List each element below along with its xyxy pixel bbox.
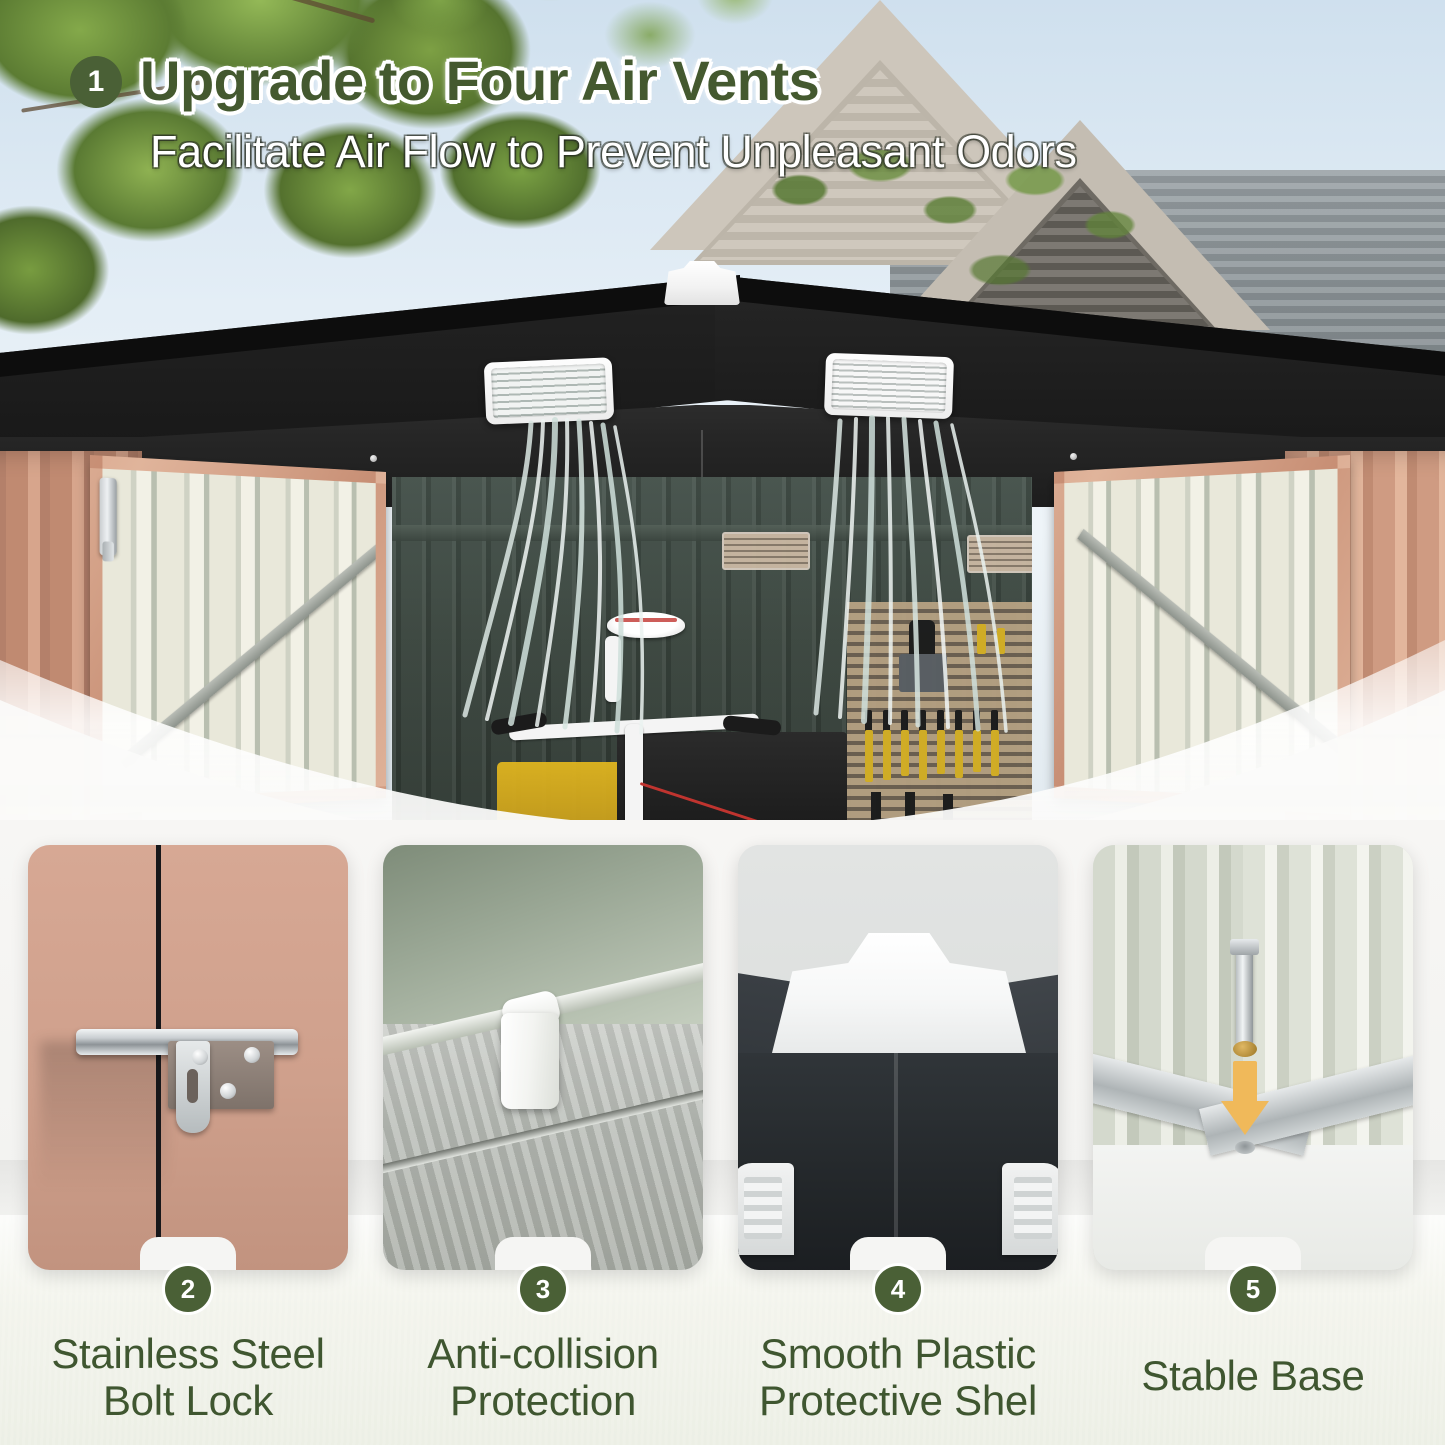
vent-louvers	[491, 364, 607, 419]
lock-screw	[244, 1047, 260, 1063]
roof-ridge-protective-shell	[664, 261, 740, 305]
shed-screw	[1070, 453, 1077, 460]
arrow-shaft	[1233, 1061, 1257, 1105]
feature-panels	[0, 845, 1445, 1285]
infographic-canvas: 1 Upgrade to Four Air Vents Facilitate A…	[0, 0, 1445, 1445]
interior-vent	[722, 532, 810, 570]
feature-panel-anti-collision[interactable]	[383, 845, 703, 1270]
hero-title: Upgrade to Four Air Vents	[140, 48, 819, 113]
hanging-tool	[899, 654, 947, 692]
shed-door-right[interactable]	[1054, 455, 1350, 815]
door-gap-seam	[156, 845, 161, 1270]
feature-caption-protective-shell: Smooth Plastic Protective Shel	[728, 1330, 1068, 1424]
shed-door-left[interactable]	[90, 455, 386, 815]
hanging-tool	[977, 624, 986, 654]
bicycle	[487, 612, 777, 842]
interior-vent	[967, 535, 1032, 573]
shed-screw	[370, 455, 377, 462]
vent-louvers	[831, 359, 947, 413]
interior-beam	[392, 525, 1032, 541]
feature-caption-anti-collision: Anti-collision Protection	[373, 1330, 713, 1424]
anchor-nut	[1230, 939, 1259, 955]
hanging-tool	[955, 730, 963, 778]
lock-shadow	[40, 1041, 168, 1191]
hanging-tool	[919, 730, 927, 780]
feature-panel-protective-shell[interactable]	[738, 845, 1058, 1270]
lock-screw	[220, 1083, 236, 1099]
tool-pegboard	[847, 602, 1032, 837]
hanging-tool	[865, 730, 873, 782]
feature-caption-bolt-lock: Stainless Steel Bolt Lock	[18, 1330, 358, 1424]
caption-line-2: Bolt Lock	[18, 1377, 358, 1424]
bike-stem	[625, 724, 643, 834]
caption-line-1: Smooth Plastic	[728, 1330, 1068, 1377]
roof-air-vent-left	[484, 357, 615, 425]
metal-storage-shed	[0, 255, 1445, 880]
feature-panel-stable-base[interactable]	[1093, 845, 1413, 1270]
lock-screw	[192, 1049, 208, 1065]
bike-saddle-stripe	[615, 618, 677, 622]
hanging-tool	[973, 730, 981, 772]
hanging-tool	[997, 628, 1005, 654]
bolt-lock-icon[interactable]	[100, 477, 117, 555]
door-frame	[1054, 455, 1350, 815]
anchor-hole	[1235, 1141, 1255, 1154]
feature-caption-stable-base: Stable Base	[1083, 1352, 1423, 1399]
door-frame	[90, 455, 386, 815]
anchor-bolt	[1236, 945, 1253, 1045]
bike-seatpost	[605, 636, 621, 702]
feature-panel-bolt-lock[interactable]	[28, 845, 348, 1270]
shell-bracket-right	[1002, 1163, 1058, 1255]
caption-line-2: Protection	[373, 1377, 713, 1424]
hanging-tool	[991, 730, 999, 776]
bike-saddle	[607, 612, 685, 638]
shell-bracket-left	[738, 1163, 794, 1255]
hanging-tool	[937, 730, 945, 774]
caption-line-1: Stainless Steel	[18, 1330, 358, 1377]
caption-line-1: Stable Base	[1083, 1352, 1423, 1399]
feature-badge-3: 3	[520, 1266, 566, 1312]
roof-air-vent-right	[824, 353, 954, 419]
feature-badge-2: 2	[165, 1266, 211, 1312]
brass-washer	[1233, 1041, 1257, 1057]
down-arrow-icon	[1221, 1061, 1269, 1135]
hero-subtitle: Facilitate Air Flow to Prevent Unpleasan…	[150, 126, 1077, 178]
tree-sparse-leaves	[380, 0, 800, 240]
caption-line-2: Protective Shel	[728, 1377, 1068, 1424]
hero-product-photo: 1 Upgrade to Four Air Vents Facilitate A…	[0, 0, 1445, 880]
feature-badge-5: 5	[1230, 1266, 1276, 1312]
feature-badge-1: 1	[70, 56, 122, 108]
plastic-bumper	[501, 1013, 559, 1109]
hanging-tool	[901, 730, 909, 776]
shed-interior	[392, 477, 1032, 877]
feature-badge-4: 4	[875, 1266, 921, 1312]
arrow-head	[1221, 1101, 1269, 1135]
caption-line-1: Anti-collision	[373, 1330, 713, 1377]
hanging-tool	[883, 730, 891, 780]
